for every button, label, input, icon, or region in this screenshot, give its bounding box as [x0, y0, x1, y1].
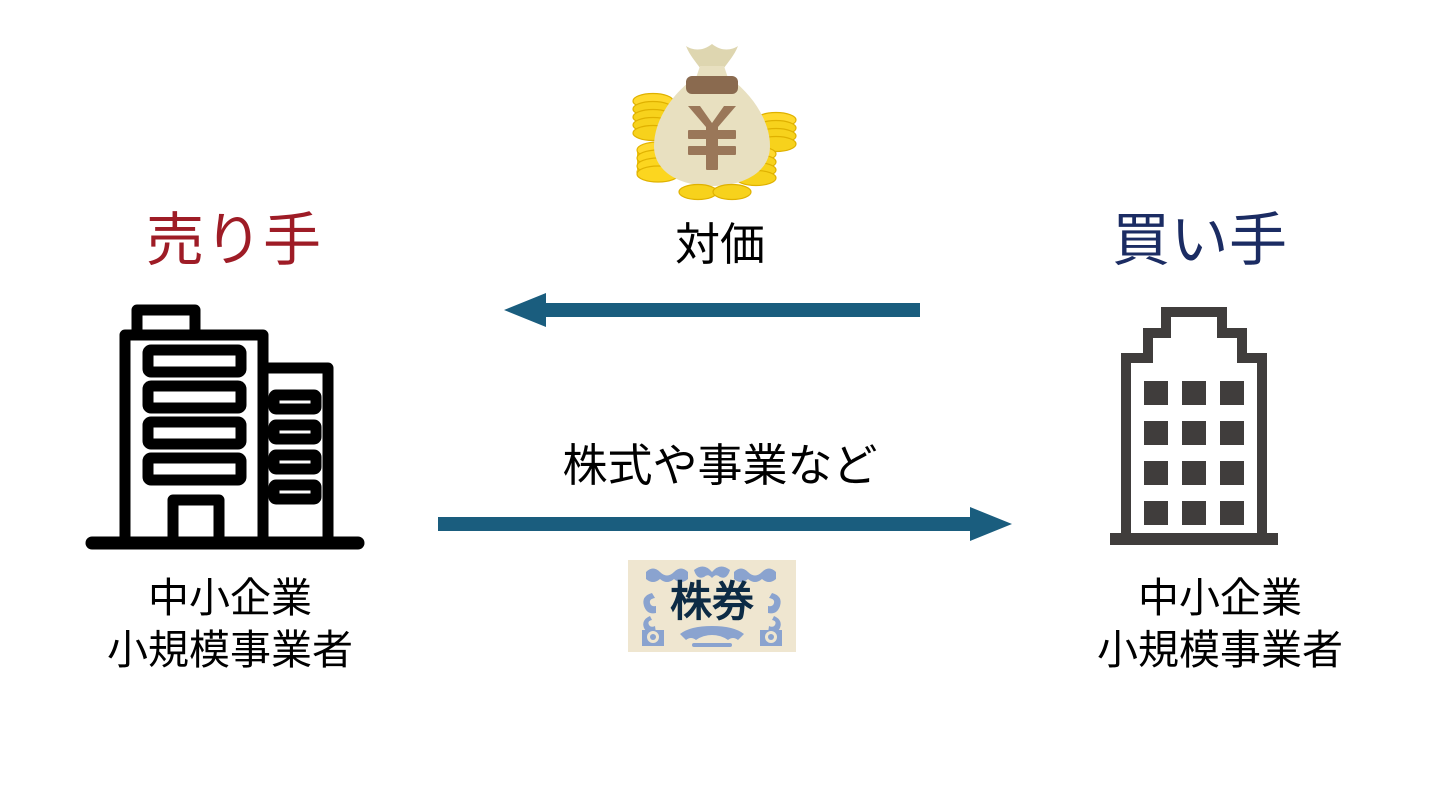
certificate-text: 株券: [670, 578, 754, 625]
diagram-canvas: 売り手 買い手 対価 株式や事業など: [0, 0, 1440, 810]
payment-flow-label: 対価: [520, 222, 920, 267]
office-tower-icon: [1104, 296, 1304, 557]
seller-caption: 中小企業 小規模事業者: [60, 572, 400, 677]
buyer-heading: 買い手: [1112, 212, 1288, 270]
seller-caption-line2: 小規模事業者: [60, 624, 400, 676]
asset-flow-label: 株式や事業など: [460, 443, 980, 488]
loose-coins: [679, 185, 751, 200]
buyer-caption-line2: 小規模事業者: [1050, 624, 1390, 676]
buyer-caption-line1: 中小企業: [1050, 572, 1390, 624]
stock-certificate-icon: 株券: [628, 560, 796, 657]
office-building-icon: [80, 300, 370, 563]
seller-heading: 売り手: [146, 212, 322, 270]
seller-caption-line1: 中小企業: [60, 572, 400, 624]
tower-windows: [1144, 381, 1244, 525]
asset-arrow-right: [432, 504, 1020, 544]
money-bag-icon: [604, 22, 820, 207]
buyer-caption: 中小企業 小規模事業者: [1050, 572, 1390, 677]
payment-arrow-left: [496, 290, 926, 330]
